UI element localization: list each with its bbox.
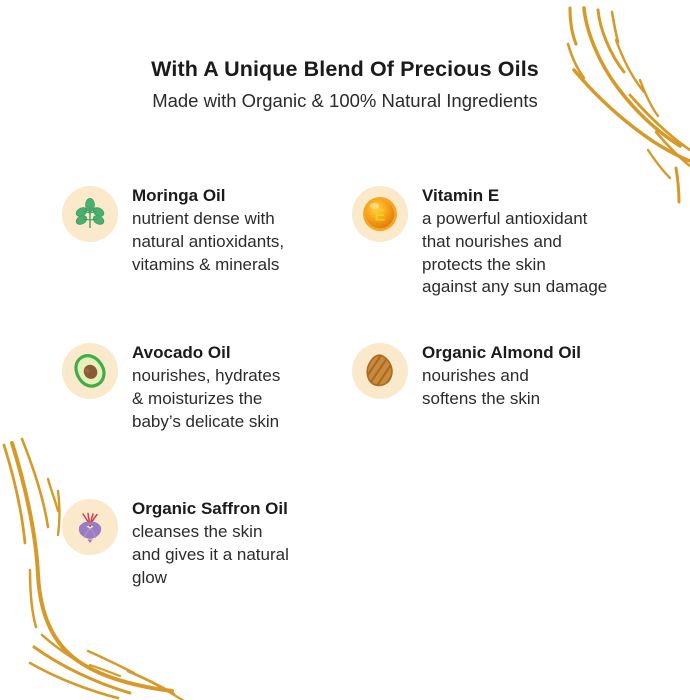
svg-text:E: E (375, 208, 386, 225)
feature-title: Moringa Oil (132, 185, 284, 207)
feature-item-almond: Organic Almond Oil nourishes and softens… (352, 341, 581, 411)
header: With A Unique Blend Of Precious Oils Mad… (0, 56, 690, 113)
feature-item-avocado: Avocado Oil nourishes, hydrates & moistu… (62, 341, 280, 433)
feature-title: Vitamin E (422, 185, 607, 207)
feature-item-moringa: Moringa Oil nutrient dense with natural … (62, 184, 284, 276)
moringa-text-block: Moringa Oil nutrient dense with natural … (132, 184, 284, 276)
saffron-icon-badge (62, 499, 118, 555)
vitamin-e-capsule-icon: E (361, 195, 399, 233)
feature-item-vitamin-e: E Vitamin E a powerful antioxidant that … (352, 184, 607, 299)
moringa-icon-badge (62, 186, 118, 242)
page-title: With A Unique Blend Of Precious Oils (0, 56, 690, 83)
page-subtitle: Made with Organic & 100% Natural Ingredi… (0, 89, 690, 113)
feature-item-saffron: Organic Saffron Oil cleanses the skin an… (62, 497, 289, 589)
almond-nut-icon (361, 352, 399, 390)
saffron-flower-icon (71, 508, 109, 546)
infographic-card: With A Unique Blend Of Precious Oils Mad… (0, 0, 690, 700)
avocado-half-icon (71, 352, 109, 390)
feature-title: Organic Saffron Oil (132, 498, 289, 520)
feature-description: nourishes and softens the skin (422, 365, 581, 410)
feature-description: nutrient dense with natural antioxidants… (132, 208, 284, 276)
feature-description: a powerful antioxidant that nourishes an… (422, 208, 607, 298)
vitamin-e-text-block: Vitamin E a powerful antioxidant that no… (422, 184, 607, 299)
almond-icon-badge (352, 343, 408, 399)
moringa-leaf-icon (72, 196, 108, 232)
feature-title: Organic Almond Oil (422, 342, 581, 364)
saffron-text-block: Organic Saffron Oil cleanses the skin an… (132, 497, 289, 589)
feature-description: cleanses the skin and gives it a natural… (132, 521, 289, 589)
vitamin-e-icon-badge: E (352, 186, 408, 242)
feature-title: Avocado Oil (132, 342, 280, 364)
feature-description: nourishes, hydrates & moisturizes the ba… (132, 365, 280, 433)
avocado-icon-badge (62, 343, 118, 399)
avocado-text-block: Avocado Oil nourishes, hydrates & moistu… (132, 341, 280, 433)
almond-text-block: Organic Almond Oil nourishes and softens… (422, 341, 581, 411)
